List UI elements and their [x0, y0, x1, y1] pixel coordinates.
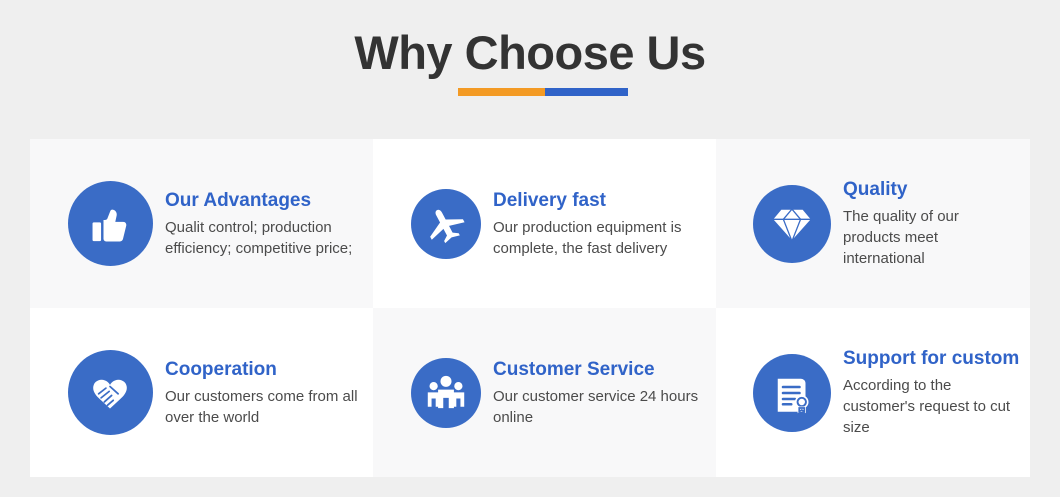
card-description: Our customer service 24 hours online: [493, 386, 704, 428]
card-description: Our customers come from all over the wor…: [165, 386, 361, 428]
card-description: The quality of our products meet interna…: [843, 206, 1018, 269]
card-text: Customer Service Our customer service 24…: [493, 358, 704, 428]
card-title: Customer Service: [493, 358, 704, 382]
feature-card-quality[interactable]: Quality The quality of our products meet…: [716, 139, 1030, 308]
card-title: Cooperation: [165, 358, 361, 382]
feature-card-grid: Our Advantages Qualit control; productio…: [30, 139, 1030, 477]
people-group-icon: [411, 358, 481, 428]
card-description: Our production equipment is complete, th…: [493, 217, 704, 259]
feature-card-our-advantages[interactable]: Our Advantages Qualit control; productio…: [30, 139, 373, 308]
why-choose-us-section: Why Choose Us Our Advantages Qualit cont…: [0, 0, 1060, 497]
card-description: Qualit control; production efficiency; c…: [165, 217, 361, 259]
title-underline: [458, 88, 628, 96]
feature-card-support-for-custom[interactable]: Support for custom According to the cust…: [716, 308, 1030, 477]
icon-container: [398, 358, 493, 428]
card-title: Quality: [843, 178, 1018, 202]
underline-segment-orange: [458, 88, 545, 96]
underline-segment-blue: [545, 88, 628, 96]
certificate-icon: [753, 354, 831, 432]
page-title: Why Choose Us: [0, 0, 1060, 82]
feature-card-cooperation[interactable]: Cooperation Our customers come from all …: [30, 308, 373, 477]
airplane-icon: [411, 189, 481, 259]
icon-container: [741, 185, 843, 263]
card-text: Cooperation Our customers come from all …: [165, 358, 361, 428]
section-header: Why Choose Us: [0, 0, 1060, 139]
card-description: According to the customer's request to c…: [843, 375, 1018, 438]
icon-container: [741, 354, 843, 432]
icon-container: [55, 181, 165, 266]
handshake-icon: [68, 350, 153, 435]
card-title: Delivery fast: [493, 189, 704, 213]
card-title: Our Advantages: [165, 189, 361, 213]
icon-container: [55, 350, 165, 435]
feature-card-customer-service[interactable]: Customer Service Our customer service 24…: [373, 308, 716, 477]
card-text: Support for custom According to the cust…: [843, 347, 1018, 438]
thumbs-up-icon: [68, 181, 153, 266]
card-text: Our Advantages Qualit control; productio…: [165, 189, 361, 259]
feature-card-delivery-fast[interactable]: Delivery fast Our production equipment i…: [373, 139, 716, 308]
icon-container: [398, 189, 493, 259]
card-text: Quality The quality of our products meet…: [843, 178, 1018, 269]
diamond-icon: [753, 185, 831, 263]
card-text: Delivery fast Our production equipment i…: [493, 189, 704, 259]
card-title: Support for custom: [843, 347, 1018, 371]
